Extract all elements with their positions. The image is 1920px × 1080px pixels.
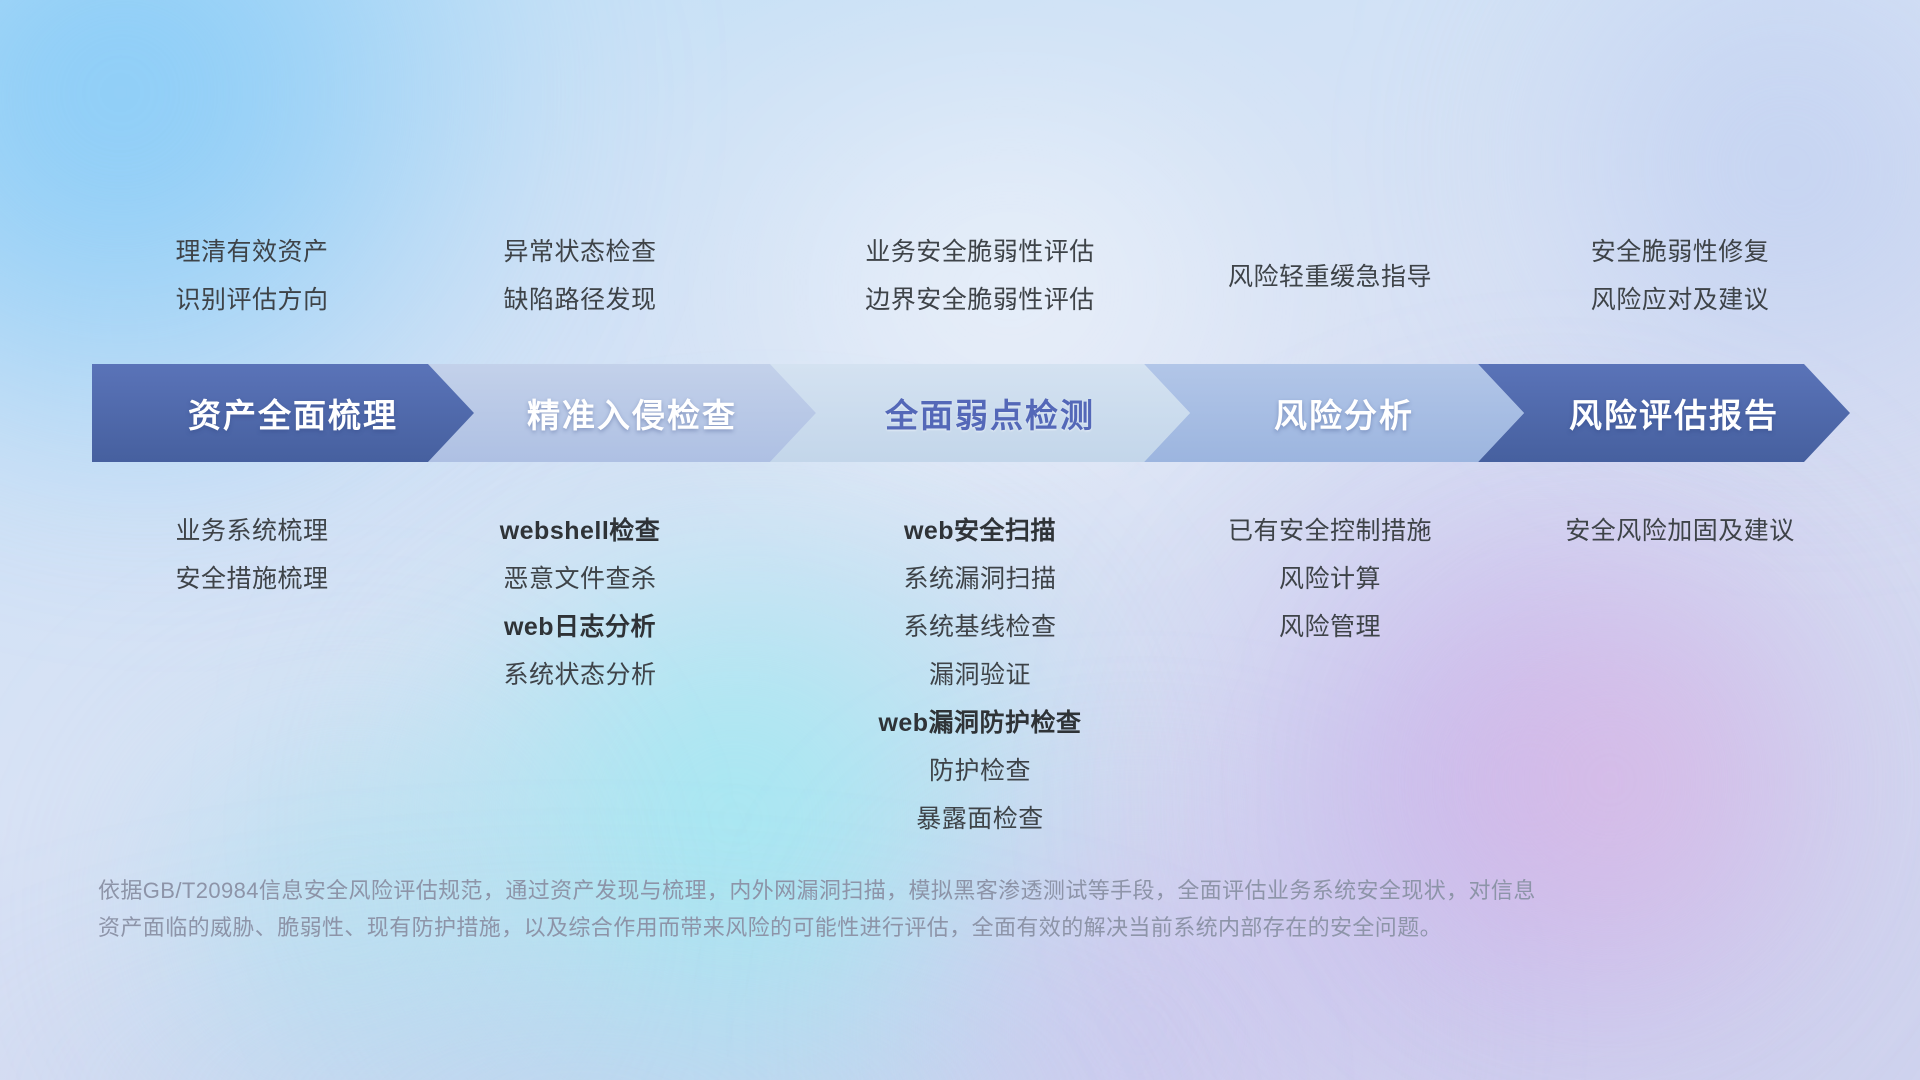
- chevron-label: 全面弱点检测: [885, 389, 1095, 437]
- stage-top-labels-3: 业务安全脆弱性评估 边界安全脆弱性评估: [780, 228, 1180, 324]
- stage-detail-item: 安全措施梳理: [92, 555, 412, 603]
- stage-top-label: 业务安全脆弱性评估: [780, 228, 1180, 276]
- stage-detail-item: 暴露面检查: [760, 795, 1200, 843]
- footer-line-2: 资产面临的威胁、脆弱性、现有防护措施，以及综合作用而带来风险的可能性进行评估，全…: [98, 909, 1738, 946]
- stage-detail-item: 防护检查: [760, 747, 1200, 795]
- chevron-label: 风险分析: [1274, 389, 1414, 437]
- stage-detail-item: 安全风险加固及建议: [1460, 507, 1900, 555]
- chevron-stage-3[interactable]: 全面弱点检测: [770, 364, 1190, 462]
- stage-detail-item: 漏洞验证: [760, 651, 1200, 699]
- stage-detail-item: web漏洞防护检查: [760, 699, 1200, 747]
- stage-top-labels-1: 理清有效资产 识别评估方向: [92, 228, 412, 324]
- stage-top-label: 安全脆弱性修复: [1500, 228, 1860, 276]
- stage-top-labels-2: 异常状态检查 缺陷路径发现: [420, 228, 740, 324]
- footer-line-1: 依据GB/T20984信息安全风险评估规范，通过资产发现与梳理，内外网漏洞扫描，…: [98, 872, 1738, 909]
- chevron-stage-2[interactable]: 精准入侵检查: [428, 364, 816, 462]
- stage-detail-item: 系统状态分析: [420, 651, 740, 699]
- process-diagram: 理清有效资产 识别评估方向 异常状态检查 缺陷路径发现 业务安全脆弱性评估 边界…: [0, 0, 1920, 1080]
- stage-top-label: 理清有效资产: [92, 228, 412, 276]
- stage-detail-item: web日志分析: [420, 603, 740, 651]
- stage-detail-item: webshell检查: [420, 507, 740, 555]
- process-chevron-band: 资产全面梳理 精准入侵检查 全面弱点检测 风险分析 风险评估报告: [92, 364, 1850, 462]
- footer-description: 依据GB/T20984信息安全风险评估规范，通过资产发现与梳理，内外网漏洞扫描，…: [98, 872, 1738, 946]
- stage-detail-item: 业务系统梳理: [92, 507, 412, 555]
- stage-top-label: 风险轻重缓急指导: [1140, 253, 1520, 301]
- stage-top-label: 缺陷路径发现: [420, 276, 740, 324]
- chevron-stage-1[interactable]: 资产全面梳理: [92, 364, 474, 462]
- stage-top-label: 边界安全脆弱性评估: [780, 276, 1180, 324]
- stage-detail-item: 恶意文件查杀: [420, 555, 740, 603]
- stage-top-labels-5: 安全脆弱性修复 风险应对及建议: [1500, 228, 1860, 324]
- chevron-label: 资产全面梳理: [188, 389, 398, 437]
- stage-detail-item: 风险计算: [1120, 555, 1540, 603]
- stage-detail-list-1: 业务系统梳理 安全措施梳理: [92, 507, 412, 603]
- stage-top-label: 异常状态检查: [420, 228, 740, 276]
- stage-top-labels-4: 风险轻重缓急指导: [1140, 253, 1520, 301]
- chevron-label: 精准入侵检查: [527, 389, 737, 437]
- stage-detail-item: 风险管理: [1120, 603, 1540, 651]
- chevron-label: 风险评估报告: [1569, 389, 1779, 437]
- chevron-stage-4[interactable]: 风险分析: [1144, 364, 1524, 462]
- chevron-stage-5[interactable]: 风险评估报告: [1478, 364, 1850, 462]
- stage-top-label: 识别评估方向: [92, 276, 412, 324]
- stage-top-label: 风险应对及建议: [1500, 276, 1860, 324]
- stage-detail-list-2: webshell检查 恶意文件查杀 web日志分析 系统状态分析: [420, 507, 740, 699]
- stage-detail-list-5: 安全风险加固及建议: [1460, 507, 1900, 555]
